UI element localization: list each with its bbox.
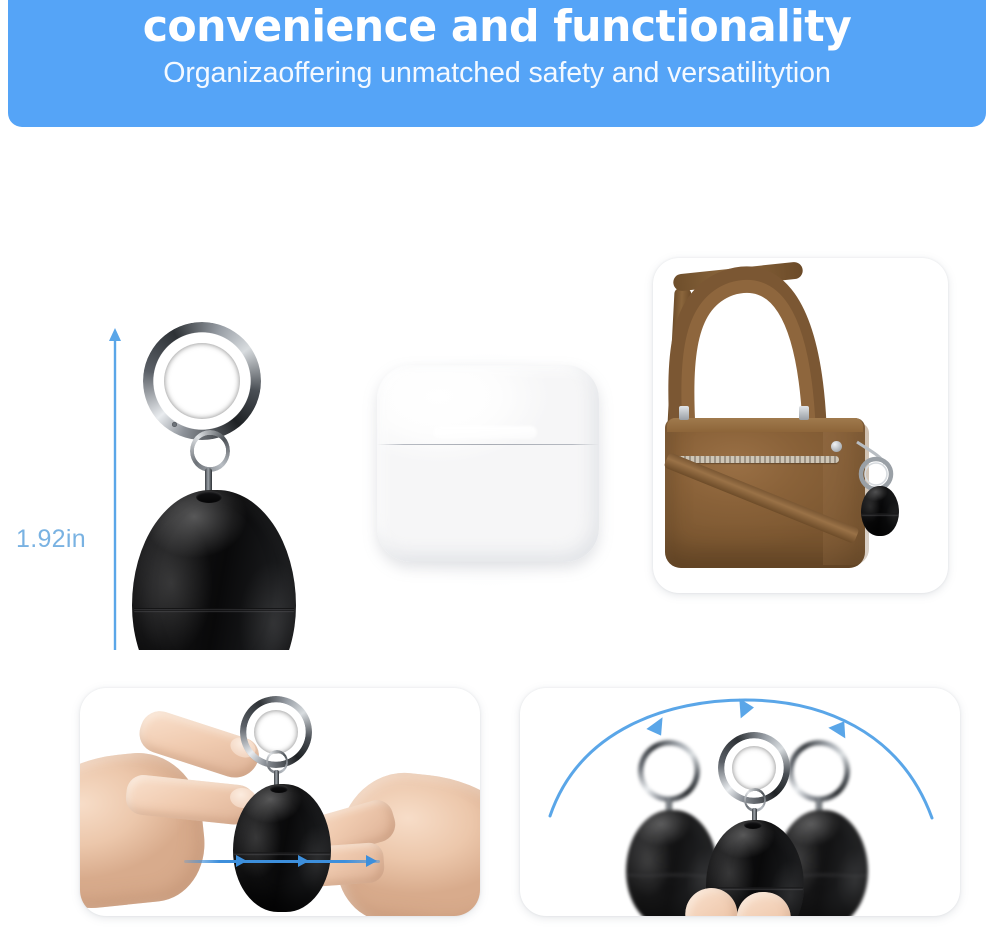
bag-zipper-pull-stud xyxy=(831,441,842,452)
banner-title: convenience and functionality xyxy=(23,0,972,54)
carabiner-ring-shade xyxy=(164,343,240,419)
panel-360-rotation xyxy=(520,688,960,916)
left-hand xyxy=(80,747,210,916)
case-top-eyelet xyxy=(196,491,222,503)
split-ring xyxy=(190,430,230,472)
rotation-center-seam xyxy=(707,887,803,889)
carabiner-gate-pin xyxy=(172,422,177,427)
charm-case-seam xyxy=(862,513,898,515)
twist-case-eyelet xyxy=(270,785,288,793)
twist-arrow-head-2 xyxy=(298,855,309,867)
twist-arrow-head-1 xyxy=(236,855,247,867)
bag-strap-loop xyxy=(663,262,843,432)
case-body xyxy=(132,490,296,650)
airpods-lid-highlight xyxy=(433,426,537,439)
bag-zipper xyxy=(671,456,839,463)
twist-arrow-head-3 xyxy=(366,855,377,867)
bag-top-edge xyxy=(667,418,863,432)
twist-arrow-line xyxy=(184,860,380,863)
panel-bag-attachment xyxy=(653,258,948,593)
header-banner: convenience and functionality Organizaof… xyxy=(8,0,986,127)
bag-buckle-left xyxy=(679,406,689,420)
rotation-center-ring-shade xyxy=(732,746,776,790)
rotation-center-eyelet xyxy=(744,821,762,829)
charm-case-body xyxy=(861,486,899,536)
airpods-seam xyxy=(377,444,599,445)
panel-twist-to-open xyxy=(80,688,480,916)
twist-arrow-group xyxy=(184,854,389,870)
product-keychain-case xyxy=(0,150,345,650)
twist-ring-shade xyxy=(254,710,298,754)
panel-compatibility: AirPods4 xyxy=(345,150,635,650)
banner-subtitle: Organizaoffering unmatched safety and ve… xyxy=(15,54,978,92)
twist-case-body xyxy=(233,784,331,912)
bag-buckle-right xyxy=(799,406,809,420)
panel-dimensions: 1.92in 1.92in xyxy=(0,150,345,650)
airpods-case xyxy=(377,365,599,562)
case-seam xyxy=(134,608,294,611)
